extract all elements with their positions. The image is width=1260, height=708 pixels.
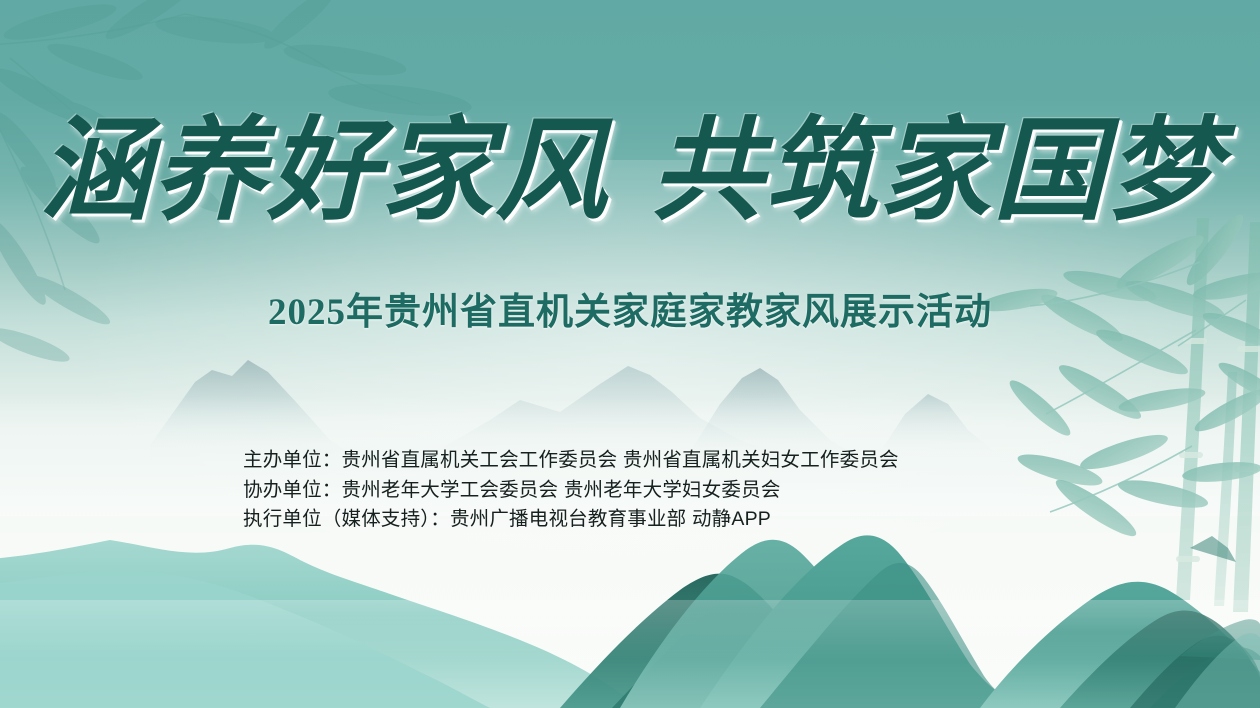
subtitle: 2025年贵州省直机关家庭家教家风展示活动 <box>0 281 1260 335</box>
credit-line-organizer: 主办单位：贵州省直属机关工会工作委员会 贵州省直属机关妇女工作委员会 <box>243 446 1063 476</box>
headline: 涵养好家风共筑家国梦 <box>0 116 1260 228</box>
headline-part-1: 涵养好家风 <box>39 110 609 234</box>
poster-canvas: 涵养好家风共筑家国梦 2025年贵州省直机关家庭家教家风展示活动 主办单位：贵州… <box>0 0 1260 708</box>
credit-line-executor: 执行单位（媒体支持）：贵州广播电视台教育事业部 动静APP <box>243 505 1063 535</box>
headline-part-2: 共筑家国梦 <box>651 110 1221 234</box>
credits-block: 主办单位：贵州省直属机关工会工作委员会 贵州省直属机关妇女工作委员会 协办单位：… <box>243 446 1063 535</box>
credit-line-coorganizer: 协办单位：贵州老年大学工会委员会 贵州老年大学妇女委员会 <box>243 476 1063 506</box>
text-content: 涵养好家风共筑家国梦 2025年贵州省直机关家庭家教家风展示活动 主办单位：贵州… <box>0 0 1260 708</box>
